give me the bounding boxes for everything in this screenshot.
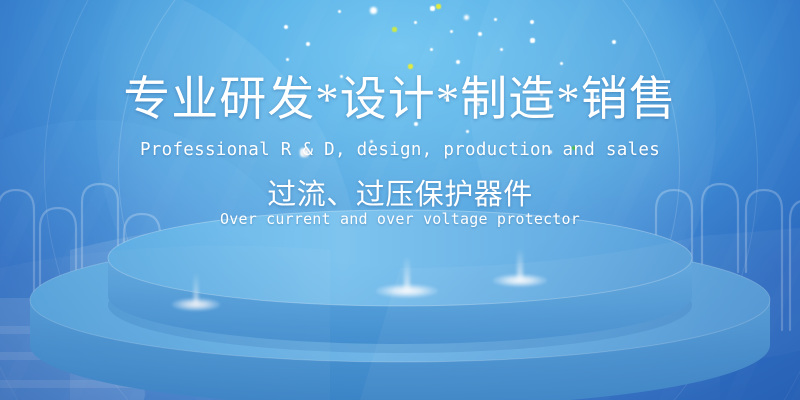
particle-dot bbox=[284, 25, 288, 29]
particle-dot bbox=[306, 42, 310, 46]
headline-english: Professional R & D, design, production a… bbox=[0, 139, 800, 161]
particle-dot bbox=[530, 38, 535, 43]
particle-dot bbox=[612, 40, 616, 44]
particle-dot bbox=[530, 20, 534, 24]
particle-dot bbox=[392, 27, 397, 32]
particle-dot bbox=[464, 15, 469, 20]
particle-dot bbox=[466, 130, 469, 133]
particle-dot bbox=[436, 4, 441, 9]
particle-dot bbox=[430, 6, 435, 11]
particle-dot bbox=[500, 48, 503, 51]
subheadline-chinese: 过流、过压保护器件 bbox=[0, 177, 800, 213]
promo-banner: 专业研发*设计*制造*销售 Professional R & D, design… bbox=[0, 0, 800, 400]
particle-dot bbox=[450, 30, 453, 33]
particle-dot bbox=[560, 62, 563, 65]
particle-dot bbox=[494, 18, 497, 21]
particle-dot bbox=[286, 58, 289, 61]
subheadline-english: Over current and over voltage protector bbox=[0, 209, 800, 229]
particle-dot bbox=[370, 7, 377, 14]
particle-dot bbox=[408, 64, 413, 69]
particle-dot bbox=[414, 21, 417, 24]
headline-chinese: 专业研发*设计*制造*销售 bbox=[0, 72, 800, 128]
particle-dot bbox=[430, 48, 433, 51]
particle-dot bbox=[478, 32, 482, 36]
particle-dot bbox=[338, 10, 341, 13]
particle-dot bbox=[456, 60, 460, 64]
